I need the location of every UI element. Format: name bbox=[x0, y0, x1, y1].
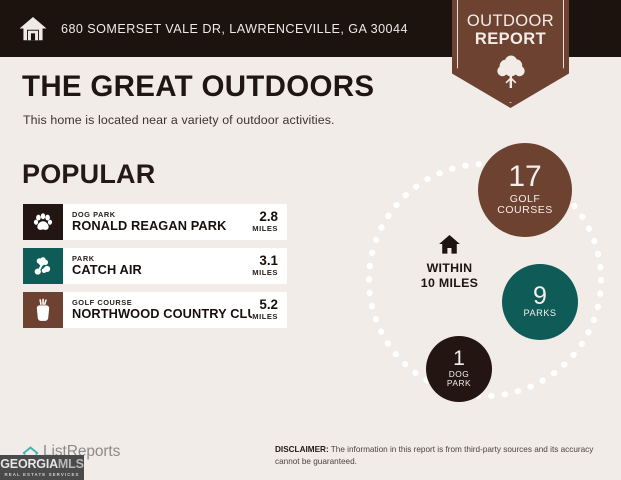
georgia-mls-wordmark: GEORGIAMLS bbox=[0, 458, 83, 471]
paw-icon bbox=[32, 211, 54, 233]
poi-distance-value: 5.2 bbox=[259, 298, 278, 312]
center-label-line1: WITHIN bbox=[387, 261, 512, 276]
georgia-mls-mls: MLS bbox=[58, 457, 84, 471]
poi-icon-box bbox=[23, 292, 63, 328]
stat-label-line1: PARKS bbox=[524, 309, 557, 319]
poi-name: RONALD REAGAN PARK bbox=[72, 219, 252, 234]
proximity-infographic: 17 GOLF COURSES 9 PARKS 1 DOG PARK WITHI… bbox=[350, 138, 621, 428]
disclaimer-label: DISCLAIMER: bbox=[275, 445, 329, 454]
poi-icon-box bbox=[23, 248, 63, 284]
poi-icon-box bbox=[23, 204, 63, 240]
stat-bubble-golf-courses[interactable]: 17 GOLF COURSES bbox=[478, 143, 572, 237]
badge-line2: REPORT bbox=[452, 31, 569, 49]
home-icon bbox=[438, 234, 461, 255]
list-item[interactable]: DOG PARK RONALD REAGAN PARK 2.8 MILES bbox=[23, 204, 287, 240]
poi-distance-unit: MILES bbox=[252, 312, 278, 321]
poi-distance-value: 2.8 bbox=[259, 210, 278, 224]
poi-name: CATCH AIR bbox=[72, 263, 252, 278]
poi-distance-block: 2.8 MILES bbox=[252, 204, 287, 240]
stat-bubble-dog-park[interactable]: 1 DOG PARK bbox=[426, 336, 492, 402]
poi-text-block: DOG PARK RONALD REAGAN PARK bbox=[63, 204, 252, 240]
golf-bag-icon bbox=[32, 298, 54, 322]
georgia-mls-tagline: REAL ESTATE SERVICES bbox=[4, 472, 79, 477]
badge-text: OUTDOOR REPORT bbox=[452, 13, 569, 49]
badge-line1: OUTDOOR bbox=[452, 13, 569, 31]
georgia-mls-logo: GEORGIAMLS REAL ESTATE SERVICES bbox=[0, 455, 84, 480]
home-icon bbox=[18, 14, 48, 44]
poi-distance-block: 5.2 MILES bbox=[252, 292, 287, 328]
poi-text-block: PARK CATCH AIR bbox=[63, 248, 252, 284]
property-address: 680 SOMERSET VALE DR, LAWRENCEVILLE, GA … bbox=[61, 22, 408, 36]
list-item[interactable]: GOLF COURSE NORTHWOOD COUNTRY CLUB 5.2 M… bbox=[23, 292, 287, 328]
stat-bubble-parks[interactable]: 9 PARKS bbox=[502, 264, 578, 340]
poi-distance-value: 3.1 bbox=[259, 254, 278, 268]
stat-count: 1 bbox=[453, 349, 465, 369]
stat-label-line2: COURSES bbox=[497, 205, 552, 216]
poi-distance-unit: MILES bbox=[252, 224, 278, 233]
poi-distance-block: 3.1 MILES bbox=[252, 248, 287, 284]
poi-text-block: GOLF COURSE NORTHWOOD COUNTRY CLUB bbox=[63, 292, 252, 328]
center-label-line2: 10 MILES bbox=[387, 276, 512, 291]
stat-count: 17 bbox=[508, 163, 541, 192]
popular-section-title: POPULAR bbox=[22, 161, 155, 188]
page-subtitle: This home is located near a variety of o… bbox=[23, 113, 335, 127]
popular-poi-list: DOG PARK RONALD REAGAN PARK 2.8 MILES bbox=[23, 204, 287, 336]
poi-distance-unit: MILES bbox=[252, 268, 278, 277]
list-item[interactable]: PARK CATCH AIR 3.1 MILES bbox=[23, 248, 287, 284]
tree-icon bbox=[496, 55, 526, 89]
stat-count: 9 bbox=[533, 285, 547, 309]
trees-icon bbox=[32, 255, 54, 277]
outdoor-report-badge: OUTDOOR REPORT bbox=[452, 0, 569, 108]
georgia-mls-georgia: GEORGIA bbox=[0, 457, 58, 471]
page-title: THE GREAT OUTDOORS bbox=[22, 72, 374, 102]
stat-label-line2: PARK bbox=[447, 379, 471, 388]
poi-name: NORTHWOOD COUNTRY CLUB bbox=[72, 307, 252, 322]
infographic-center-label: WITHIN 10 MILES bbox=[387, 234, 512, 291]
outdoor-report-page: 680 SOMERSET VALE DR, LAWRENCEVILLE, GA … bbox=[0, 0, 621, 480]
disclaimer: DISCLAIMER: The information in this repo… bbox=[275, 444, 595, 467]
